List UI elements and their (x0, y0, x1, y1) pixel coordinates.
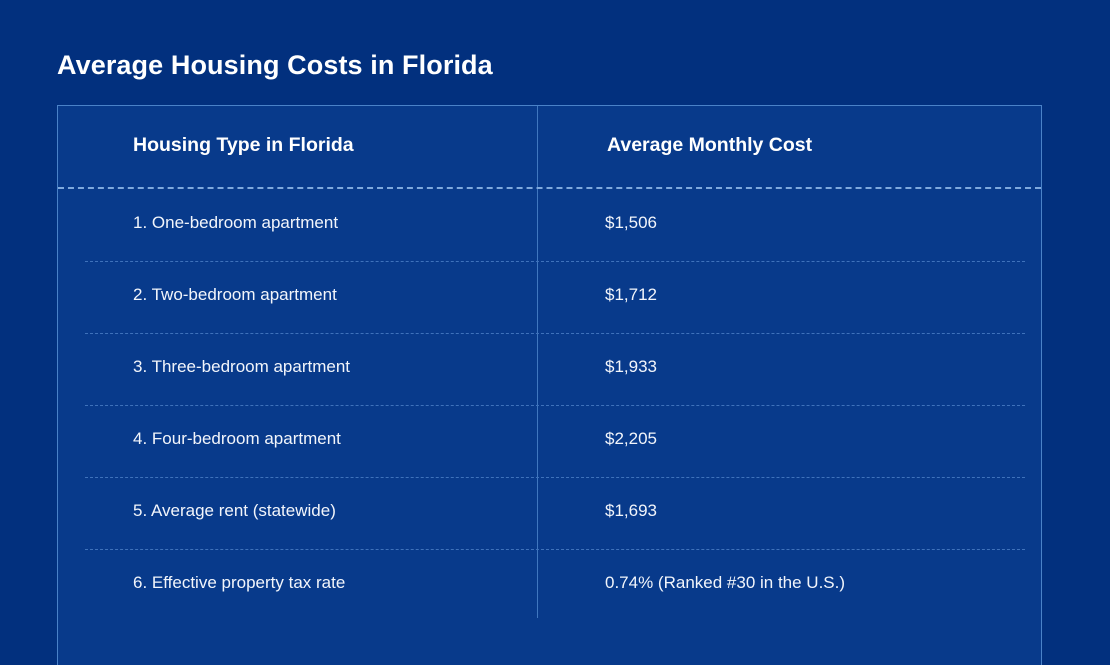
table-row: 1. One-bedroom apartment $1,506 (58, 189, 1041, 261)
table-row: 5. Average rent (statewide) $1,693 (58, 477, 1041, 549)
cell-housing-type: 6. Effective property tax rate (133, 573, 345, 593)
cell-average-monthly-cost: $1,933 (605, 357, 657, 377)
housing-costs-table: Housing Type in Florida Average Monthly … (57, 105, 1042, 665)
cell-housing-type: 5. Average rent (statewide) (133, 501, 336, 521)
column-header-housing-type: Housing Type in Florida (133, 134, 354, 157)
table-row: 6. Effective property tax rate 0.74% (Ra… (58, 549, 1041, 621)
page-root: Average Housing Costs in Florida Housing… (0, 0, 1110, 640)
table-row: 2. Two-bedroom apartment $1,712 (58, 261, 1041, 333)
cell-average-monthly-cost: $2,205 (605, 429, 657, 449)
table-row: 4. Four-bedroom apartment $2,205 (58, 405, 1041, 477)
cell-housing-type: 2. Two-bedroom apartment (133, 285, 337, 305)
cell-average-monthly-cost: 0.74% (Ranked #30 in the U.S.) (605, 573, 845, 593)
cell-average-monthly-cost: $1,693 (605, 501, 657, 521)
table-body: 1. One-bedroom apartment $1,506 2. Two-b… (58, 189, 1041, 621)
column-header-average-monthly-cost: Average Monthly Cost (607, 134, 812, 157)
cell-housing-type: 4. Four-bedroom apartment (133, 429, 341, 449)
cell-housing-type: 3. Three-bedroom apartment (133, 357, 350, 377)
cell-average-monthly-cost: $1,712 (605, 285, 657, 305)
table-header-row: Housing Type in Florida Average Monthly … (58, 106, 1041, 188)
table-row: 3. Three-bedroom apartment $1,933 (58, 333, 1041, 405)
page-title: Average Housing Costs in Florida (57, 50, 493, 81)
cell-average-monthly-cost: $1,506 (605, 213, 657, 233)
cell-housing-type: 1. One-bedroom apartment (133, 213, 338, 233)
